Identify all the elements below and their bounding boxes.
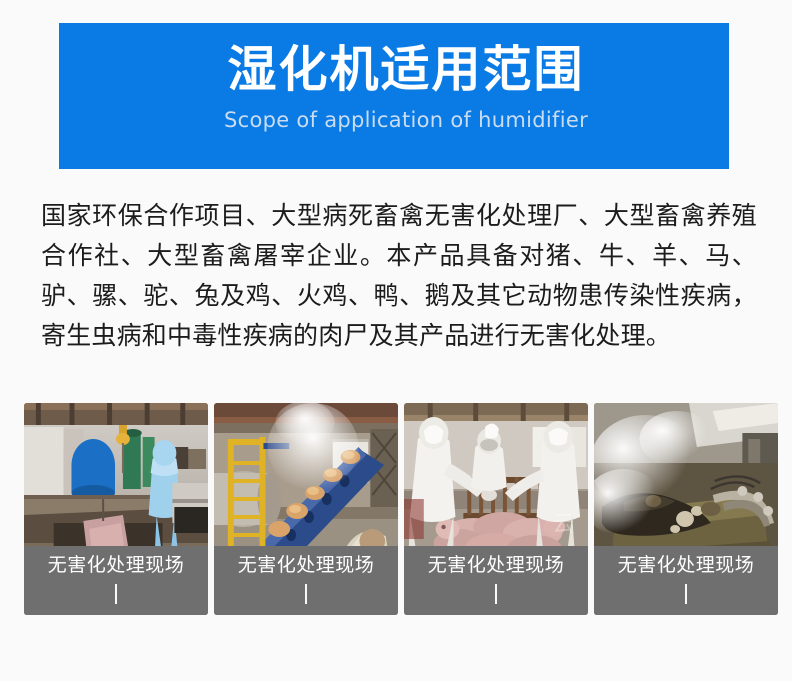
gallery-caption: 无害化处理现场 — [214, 546, 398, 615]
gallery-caption-text: 无害化处理现场 — [238, 555, 375, 576]
gallery-caption: 无害化处理现场 — [24, 546, 208, 615]
image-gallery: 无害化处理现场 — [24, 403, 778, 615]
gallery-caption: 无害化处理现场 — [594, 546, 778, 615]
gallery-card[interactable]: 云 无害化处理现场 — [404, 403, 588, 615]
page-subtitle: Scope of application of humidifier — [224, 108, 588, 132]
header-banner: 湿化机适用范围 Scope of application of humidifi… — [59, 23, 729, 169]
caption-divider-icon — [685, 584, 687, 604]
description-paragraph: 国家环保合作项目、大型病死畜禽无害化处理厂、大型畜禽养殖合作社、大型畜禽屠宰企业… — [41, 196, 757, 356]
gallery-card[interactable]: 无害化处理现场 — [214, 403, 398, 615]
gallery-card[interactable]: 无害化处理现场 — [24, 403, 208, 615]
gallery-caption: 无害化处理现场 — [404, 546, 588, 615]
page-title: 湿化机适用范围 — [227, 43, 584, 98]
gallery-card[interactable]: 无害化处理现场 — [594, 403, 778, 615]
gallery-caption-text: 无害化处理现场 — [618, 555, 755, 576]
gallery-caption-text: 无害化处理现场 — [48, 555, 185, 576]
gallery-caption-text: 无害化处理现场 — [428, 555, 565, 576]
caption-divider-icon — [305, 584, 307, 604]
caption-divider-icon — [495, 584, 497, 604]
caption-divider-icon — [115, 584, 117, 604]
svg-text:云: 云 — [552, 512, 574, 537]
